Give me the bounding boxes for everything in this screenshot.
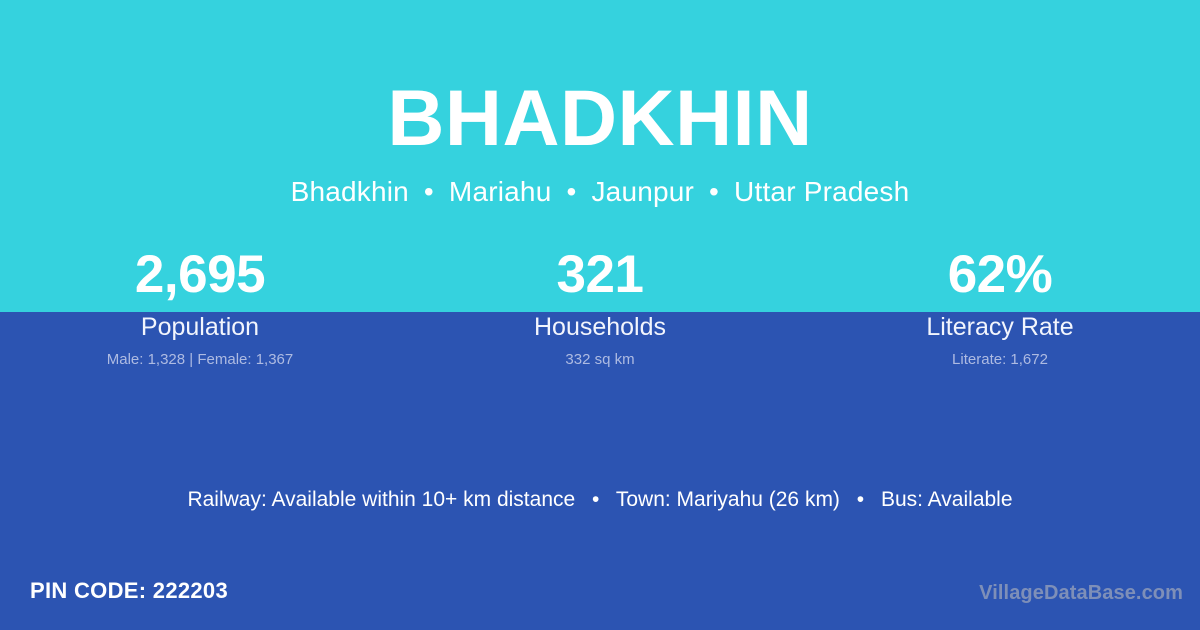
site-brand-label: VillageDataBase.com — [979, 579, 1183, 607]
amenity-railway: Railway: Available within 10+ km distanc… — [187, 488, 575, 511]
amenity-separator: • — [581, 488, 610, 511]
stat-value: 321 — [400, 243, 800, 307]
breadcrumb-item-district: Jaunpur — [591, 176, 694, 207]
stat-label: Households — [400, 312, 800, 342]
stat-value: 2,695 — [0, 243, 400, 307]
stat-label: Population — [0, 312, 400, 342]
amenity-town: Town: Mariyahu (26 km) — [616, 488, 840, 511]
breadcrumb: Bhadkhin • Mariahu • Jaunpur • Uttar Pra… — [0, 177, 1200, 208]
card-footer: PIN CODE: 222203 VillageDataBase.com — [0, 572, 1200, 616]
breadcrumb-separator: • — [417, 176, 441, 207]
stat-label: Literacy Rate — [800, 312, 1200, 342]
stat-households: 321 Households 332 sq km — [400, 243, 800, 369]
breadcrumb-item-block: Mariahu — [449, 176, 552, 207]
amenities-row: Railway: Available within 10+ km distanc… — [0, 486, 1200, 514]
breadcrumb-item-state: Uttar Pradesh — [734, 176, 909, 207]
stat-literacy-rate: 62% Literacy Rate Literate: 1,672 — [800, 243, 1200, 369]
stat-value: 62% — [800, 243, 1200, 307]
amenity-separator: • — [846, 488, 875, 511]
breadcrumb-separator: • — [559, 176, 583, 207]
pin-code-label: PIN CODE: 222203 — [30, 576, 228, 606]
stat-sublabel: Literate: 1,672 — [800, 350, 1200, 369]
amenity-bus: Bus: Available — [881, 488, 1013, 511]
stat-sublabel: Male: 1,328 | Female: 1,367 — [0, 350, 400, 369]
page-title: BHADKHIN — [0, 78, 1200, 157]
stats-row: 2,695 Population Male: 1,328 | Female: 1… — [0, 243, 1200, 369]
breadcrumb-separator: • — [702, 176, 726, 207]
stat-population: 2,695 Population Male: 1,328 | Female: 1… — [0, 243, 400, 369]
stat-sublabel: 332 sq km — [400, 350, 800, 369]
village-info-card: BHADKHIN Bhadkhin • Mariahu • Jaunpur • … — [0, 0, 1200, 630]
card-header: BHADKHIN Bhadkhin • Mariahu • Jaunpur • … — [0, 0, 1200, 208]
breadcrumb-item-village: Bhadkhin — [291, 176, 409, 207]
